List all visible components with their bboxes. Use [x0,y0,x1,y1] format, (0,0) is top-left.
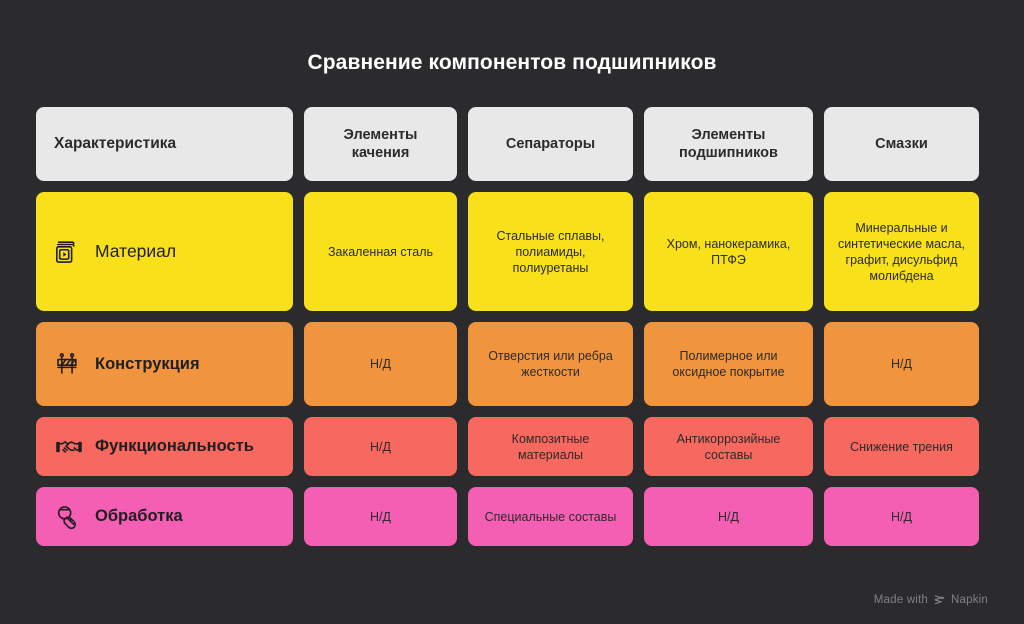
column-header-characteristic: Характеристика [36,107,293,181]
construction-barrier-icon [54,349,84,379]
table-row-material: Материал Закаленная сталь Стальные сплав… [36,192,988,311]
row-label-text: Конструкция [95,354,200,375]
watermark-brand-label: Napkin [951,594,988,606]
table-row-treatment: Обработка Н/Д Специальные составы Н/Д Н/… [36,487,988,546]
row-label-construction: Конструкция [36,322,293,406]
column-header-bearing-elements: Элементы подшипников [644,107,813,181]
media-book-icon [54,237,84,267]
cell-functionality-bearing-elements: Антикоррозийные составы [644,417,813,476]
cell-treatment-rolling-elements: Н/Д [304,487,457,546]
table-row-construction: Конструкция Н/Д Отверстия или ребра жест… [36,322,988,406]
row-label-text: Обработка [95,506,183,527]
column-header-rolling-elements: Элементы качения [304,107,457,181]
cell-construction-separators: Отверстия или ребра жесткости [468,322,633,406]
cell-treatment-bearing-elements: Н/Д [644,487,813,546]
table-header-row: Характеристика Элементы качения Сепарато… [36,107,988,181]
row-label-functionality: Функциональность [36,417,293,476]
row-label-treatment: Обработка [36,487,293,546]
cell-material-rolling-elements: Закаленная сталь [304,192,457,311]
cell-construction-rolling-elements: Н/Д [304,322,457,406]
page-title: Сравнение компонентов подшипников [36,50,988,75]
row-label-text: Функциональность [95,436,254,457]
column-header-lubricants: Смазки [824,107,979,181]
column-header-separators: Сепараторы [468,107,633,181]
cell-material-lubricants: Минеральные и синтетические масла, графи… [824,192,979,311]
comparison-table: Характеристика Элементы качения Сепарато… [36,107,988,546]
table-row-functionality: Функциональность Н/Д Композитные материа… [36,417,988,476]
napkin-watermark: Made with Napkin [874,593,988,606]
row-label-text: Материал [95,240,176,262]
handshake-icon [54,432,84,462]
cell-treatment-lubricants: Н/Д [824,487,979,546]
cell-construction-lubricants: Н/Д [824,322,979,406]
cell-functionality-lubricants: Снижение трения [824,417,979,476]
pills-icon [54,502,84,532]
cell-material-bearing-elements: Хром, нанокерамика, ПТФЭ [644,192,813,311]
napkin-chevron-logo [933,593,946,606]
row-label-material: Материал [36,192,293,311]
cell-material-separators: Стальные сплавы, полиамиды, полиуретаны [468,192,633,311]
cell-functionality-separators: Композитные материалы [468,417,633,476]
cell-treatment-separators: Специальные составы [468,487,633,546]
watermark-made-with-label: Made with [874,594,928,606]
cell-functionality-rolling-elements: Н/Д [304,417,457,476]
slide-canvas: Сравнение компонентов подшипников Характ… [0,0,1024,624]
cell-construction-bearing-elements: Полимерное или оксидное покрытие [644,322,813,406]
